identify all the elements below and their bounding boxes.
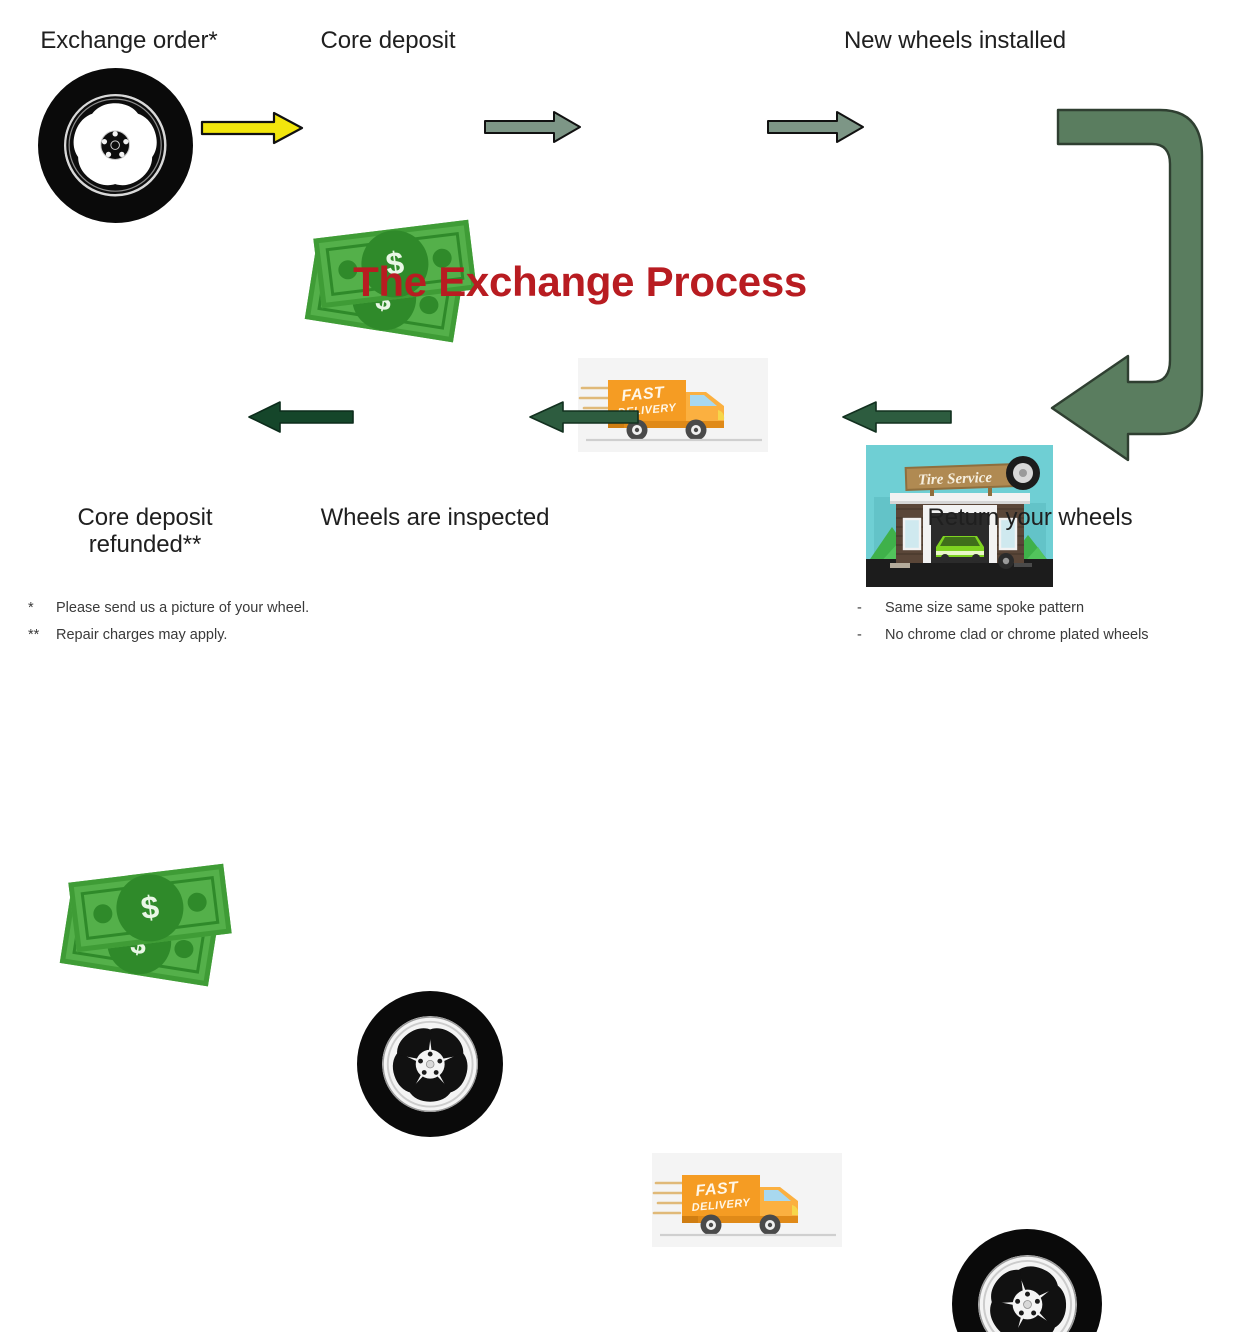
- footnote-text: Same size same spoke pattern: [885, 595, 1084, 622]
- footnote-marker: **: [28, 622, 47, 649]
- footnote-row: - No chrome clad or chrome plated wheels: [857, 622, 1247, 649]
- wheel-chrome-return-icon: [952, 1229, 1102, 1332]
- page-title: The Exchange Process: [0, 258, 1160, 306]
- fast-delivery-truck-return-icon: FAST DELIVERY: [652, 1153, 842, 1247]
- footnote-text: Repair charges may apply.: [56, 622, 227, 649]
- step-label-wheels-inspected: Wheels are inspected: [300, 505, 570, 532]
- infographic-canvas: Exchange order* Core deposit New wheels …: [0, 0, 1250, 666]
- wheel-rim-face: [382, 1016, 478, 1112]
- shop-sign-text: Tire Service: [918, 470, 993, 489]
- footnote-text: No chrome clad or chrome plated wheels: [885, 622, 1149, 649]
- footnote-text: Please send us a picture of your wheel.: [56, 595, 309, 622]
- step-label-new-wheels-installed: New wheels installed: [810, 28, 1100, 55]
- footnote-marker: -: [857, 595, 876, 622]
- wheel-dark-icon: [38, 68, 193, 223]
- arrow-left-green-2: [527, 400, 639, 434]
- footnotes-right: - Same size same spoke pattern - No chro…: [857, 595, 1247, 649]
- arrow-right-sage-2: [767, 110, 865, 144]
- step-label-core-deposit-refunded: Core deposit refunded**: [25, 505, 265, 559]
- step-label-return-your-wheels: Return your wheels: [900, 505, 1160, 532]
- step-label-core-deposit: Core deposit: [288, 28, 488, 55]
- footnote-marker: -: [857, 622, 876, 649]
- arrow-left-green-3: [840, 400, 952, 434]
- footnotes-left: * Please send us a picture of your wheel…: [28, 595, 448, 649]
- footnote-row: - Same size same spoke pattern: [857, 595, 1247, 622]
- footnote-row: * Please send us a picture of your wheel…: [28, 595, 448, 622]
- money-refund-icon: $ $: [58, 871, 236, 996]
- footnote-row: ** Repair charges may apply.: [28, 622, 448, 649]
- wheel-rim-face: [64, 94, 166, 196]
- arrow-right-yellow: [200, 110, 304, 146]
- wheel-chrome-inspected-icon: [357, 991, 503, 1137]
- arrow-left-green-1: [246, 400, 354, 434]
- footnote-marker: *: [28, 595, 47, 622]
- arrow-right-sage-1: [484, 110, 582, 144]
- step-label-exchange-order: Exchange order*: [0, 28, 258, 55]
